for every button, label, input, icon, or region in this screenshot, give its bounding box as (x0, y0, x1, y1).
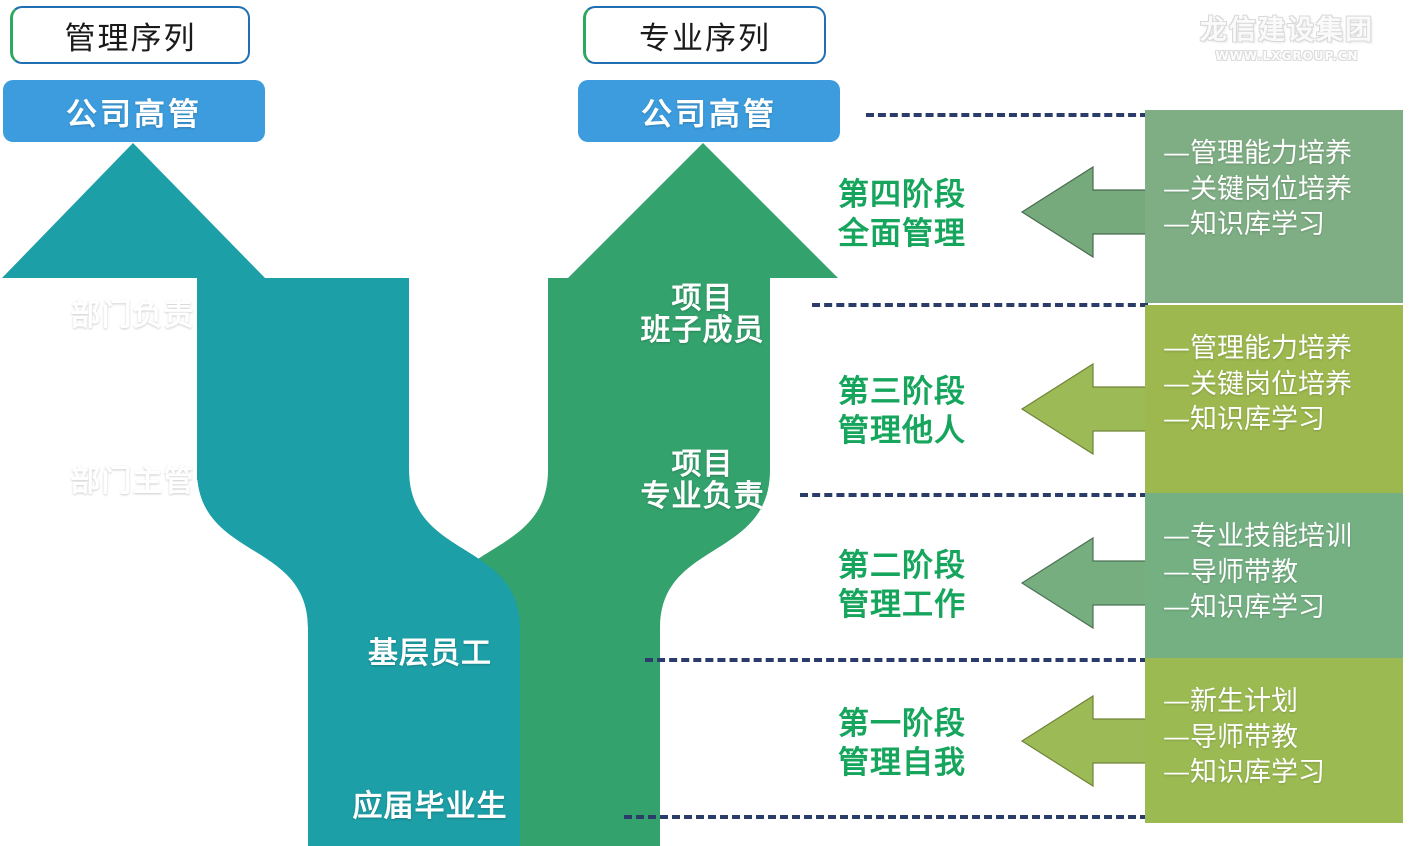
top-box-professional-executive[interactable]: 公司高管 (578, 80, 840, 142)
stage-divider-3-2 (800, 493, 1148, 497)
stage-title-2: 第二阶段 管理工作 (838, 547, 1008, 625)
stage-title-3: 第三阶段 管理他人 (838, 373, 1008, 451)
sequence-pill-management-label: 管理序列 (65, 13, 197, 58)
stage-1-item-2: —导师带教 (1163, 720, 1403, 756)
stage-band-2: —专业技能培训 —导师带教 —知识库学习 (1145, 493, 1403, 658)
diagram-canvas: 管理序列 专业序列 公司高管 公司高管 部门负责 部门主管 项目 班子成员 项目… (0, 0, 1410, 846)
trunk-base-shape (308, 640, 520, 846)
stage-band-1: —新生计划 —导师带教 —知识库学习 (1145, 658, 1403, 823)
stage-3-item-3: —知识库学习 (1163, 402, 1403, 438)
stage-divider-top (866, 113, 1148, 117)
stage-4-item-1: —管理能力培养 (1163, 136, 1403, 172)
stage-3-item-2: —关键岗位培养 (1163, 367, 1403, 403)
stage-arrow-3 (1022, 364, 1148, 454)
stage-3-item-1: —管理能力培养 (1163, 331, 1403, 367)
stage-1-item-3: —知识库学习 (1163, 755, 1403, 791)
top-box-professional-label: 公司高管 (641, 89, 777, 134)
sequence-pill-management[interactable]: 管理序列 (10, 6, 250, 64)
stage-divider-2-1 (645, 658, 1148, 662)
stage-divider-4-3 (812, 303, 1148, 307)
management-column-shape (197, 278, 409, 480)
stage-arrow-2 (1022, 538, 1148, 628)
stage-arrow-4 (1022, 167, 1148, 257)
stage-2-item-3: —知识库学习 (1163, 590, 1403, 626)
stage-title-4: 第四阶段 全面管理 (838, 176, 1008, 254)
stage-content-panel: —管理能力培养 —关键岗位培养 —知识库学习 —管理能力培养 —关键岗位培养 —… (1145, 110, 1403, 823)
stage-arrow-1 (1022, 696, 1148, 786)
top-box-management-label: 公司高管 (66, 89, 202, 134)
sequence-pill-professional[interactable]: 专业序列 (583, 6, 826, 64)
stage-2-item-1: —专业技能培训 (1163, 519, 1403, 555)
stage-4-item-3: —知识库学习 (1163, 207, 1403, 243)
stage-1-item-1: —新生计划 (1163, 684, 1403, 720)
sequence-pill-professional-label: 专业序列 (639, 13, 771, 58)
stage-band-3: —管理能力培养 —关键岗位培养 —知识库学习 (1145, 305, 1403, 493)
stage-4-item-2: —关键岗位培养 (1163, 172, 1403, 208)
stage-2-item-2: —导师带教 (1163, 555, 1403, 591)
stage-divider-bottom (624, 815, 1148, 819)
stage-band-4: —管理能力培养 —关键岗位培养 —知识库学习 (1145, 110, 1403, 303)
top-box-management-executive[interactable]: 公司高管 (3, 80, 265, 142)
stage-title-1: 第一阶段 管理自我 (838, 705, 1008, 783)
